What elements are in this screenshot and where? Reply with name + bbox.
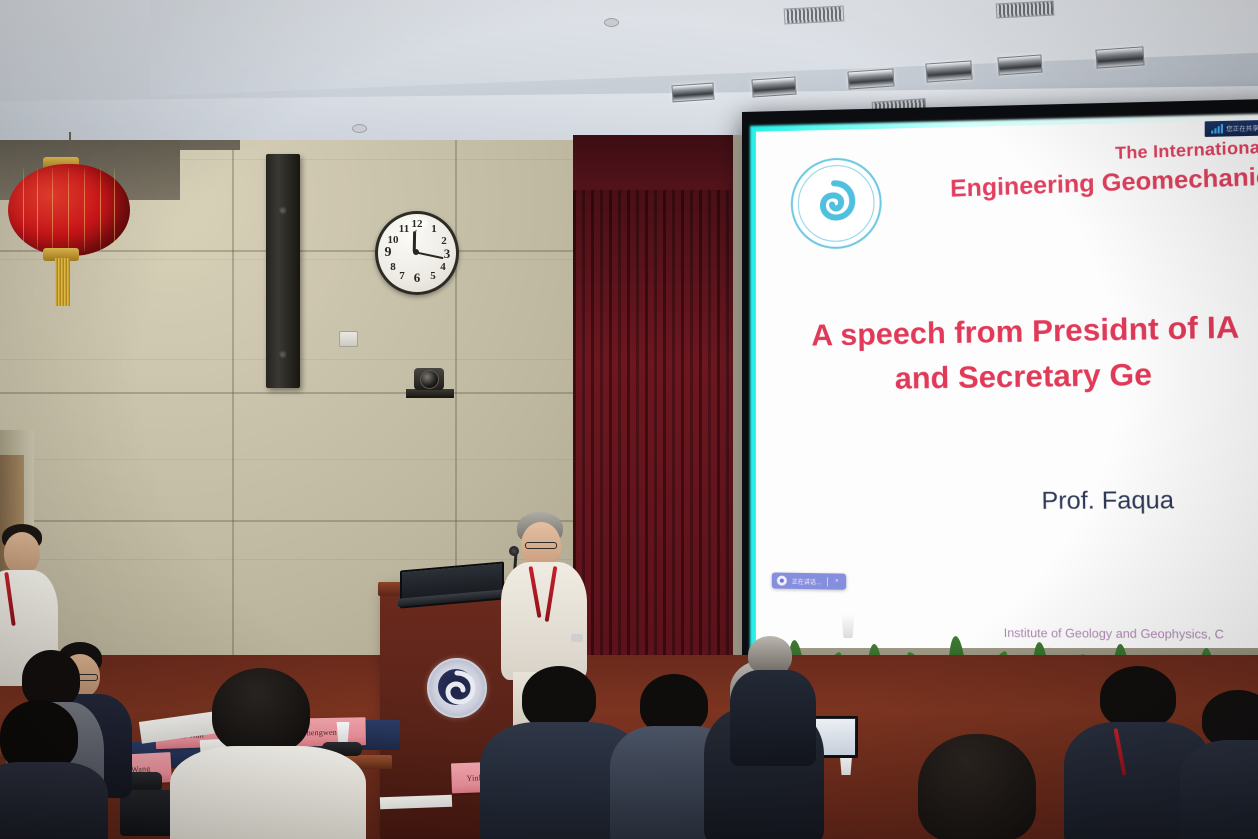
slide-header-line-2: Engineering Geomechanics <box>950 162 1258 204</box>
red-lantern-icon <box>8 164 130 256</box>
clock-numeral: 12 <box>411 218 423 230</box>
clock-numeral: 1 <box>428 223 440 235</box>
conference-hall-photo: 12 1 2 3 4 5 6 7 8 9 10 11 * <box>0 0 1258 839</box>
slide-header-line-1: The International <box>1115 137 1258 164</box>
person-hair <box>748 636 792 674</box>
podium-institute-emblem-icon <box>427 658 487 718</box>
downlight-icon <box>671 83 714 103</box>
toolbar-divider <box>827 577 828 586</box>
person-hair <box>640 674 708 734</box>
audience-person <box>1196 690 1258 839</box>
stage-red-curtain <box>573 190 753 680</box>
person-hair <box>1100 666 1176 728</box>
person-hair <box>522 666 596 730</box>
clock-brand-mark: * <box>409 230 423 240</box>
wall-seam <box>0 520 580 522</box>
air-vent-icon <box>996 0 1055 18</box>
light-switch-icon[interactable] <box>339 331 358 347</box>
record-dot-icon <box>777 576 787 586</box>
smoke-detector-icon <box>604 18 619 27</box>
signal-bars-icon <box>1211 125 1223 134</box>
slide-author: Prof. Faqua <box>1041 486 1174 516</box>
person-torso <box>170 746 366 839</box>
column-speaker-icon <box>266 154 300 388</box>
smoke-detector-icon <box>352 124 367 133</box>
audience-person <box>744 636 810 756</box>
screen-share-toolbar-label: 正在讲话… <box>792 576 822 586</box>
clock-numeral: 5 <box>427 270 439 282</box>
downlight-icon <box>925 60 972 82</box>
downlight-icon <box>751 76 796 97</box>
audience-person <box>0 700 106 839</box>
person-hair <box>918 734 1036 839</box>
audience-person <box>490 666 630 839</box>
clock-numeral: 6 <box>411 272 423 284</box>
curtain-pelmet <box>573 135 753 197</box>
share-status-chip: 您正在共享屏幕 <box>1205 120 1258 137</box>
presenter-torso <box>501 562 587 680</box>
presenter-wristwatch <box>571 634 583 642</box>
clock-numeral: 8 <box>387 261 399 273</box>
downlight-icon <box>997 54 1042 75</box>
institute-logo-icon <box>791 157 882 249</box>
close-icon[interactable]: × <box>833 578 841 584</box>
air-vent-icon <box>784 5 845 24</box>
wall-seam <box>0 392 580 394</box>
clock-center-cap <box>413 249 419 255</box>
camera-shelf <box>406 389 454 398</box>
slide-title-line-1: A speech from Presidnt of IA <box>756 304 1258 359</box>
ceiling-soffit <box>150 0 1258 96</box>
share-status-label: 您正在共享屏幕 <box>1226 123 1258 133</box>
projection-screen[interactable]: The International Engineering Geomechani… <box>742 99 1258 691</box>
person-head <box>4 532 40 574</box>
downlight-icon <box>847 68 894 89</box>
person-torso <box>730 670 816 766</box>
presenter-glasses <box>525 542 557 549</box>
person-torso <box>0 762 108 839</box>
audience-person <box>176 668 356 839</box>
wall-seam <box>232 60 234 660</box>
person-torso <box>1180 740 1258 839</box>
clock-numeral: 10 <box>387 234 399 246</box>
person-hair <box>212 668 310 754</box>
presentation-slide: The International Engineering Geomechani… <box>756 120 1258 659</box>
analog-wall-clock: 12 1 2 3 4 5 6 7 8 9 10 11 * <box>375 211 459 295</box>
audience-person <box>908 734 1048 839</box>
slide-title: A speech from Presidnt of IA and Secreta… <box>756 304 1258 403</box>
paper-stack <box>380 795 452 810</box>
clock-numeral: 9 <box>382 247 394 259</box>
lantern-tassel <box>55 258 70 306</box>
screen-share-toolbar[interactable]: 正在讲话… × <box>772 572 846 589</box>
downlight-icon <box>1095 46 1144 68</box>
camera-lens-icon <box>420 370 439 389</box>
